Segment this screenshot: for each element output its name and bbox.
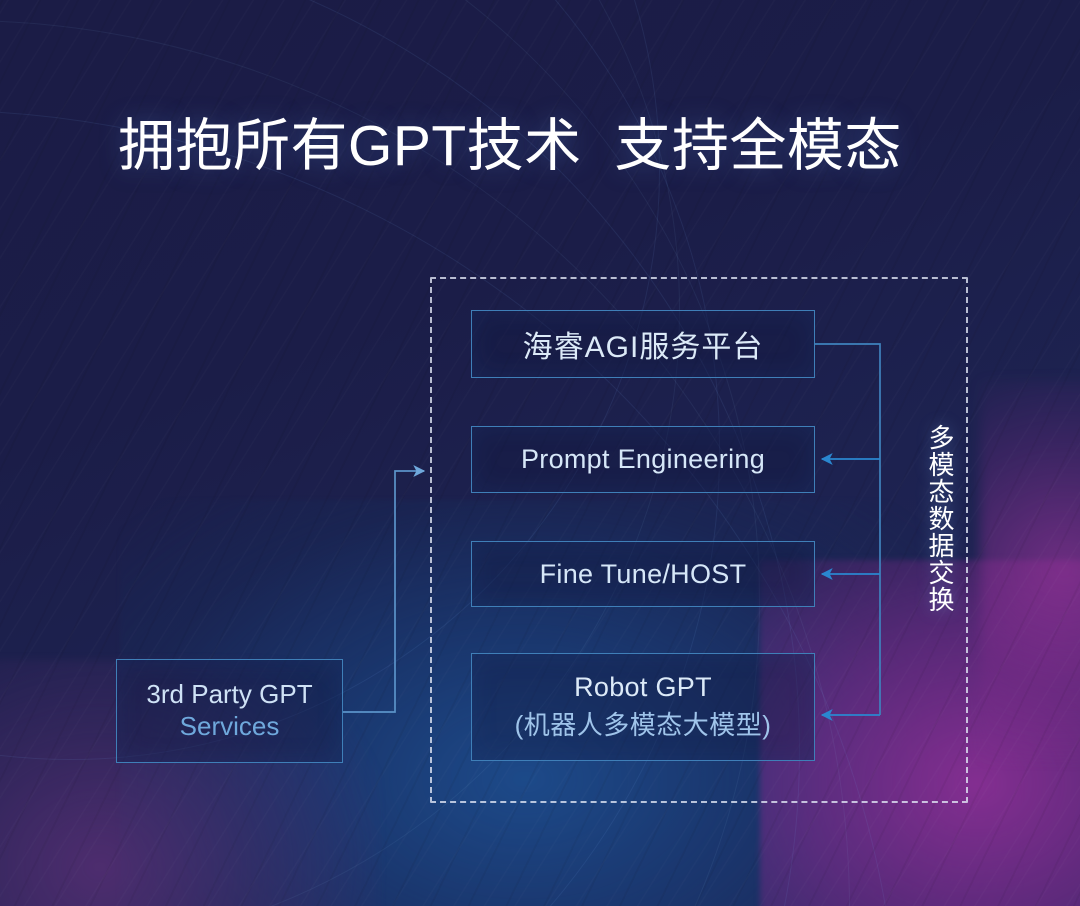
multimodal-data-exchange-label: 多模态数据交换 <box>916 424 954 613</box>
node-agi-service-platform[interactable]: 海睿AGI服务平台 <box>471 310 815 378</box>
node-label: Fine Tune/HOST <box>540 559 747 590</box>
node-third-party-gpt-services[interactable]: 3rd Party GPT Services <box>116 659 343 763</box>
node-prompt-engineering[interactable]: Prompt Engineering <box>471 426 815 493</box>
architecture-diagram: 海睿AGI服务平台 Prompt Engineering Fine Tune/H… <box>0 0 1080 906</box>
node-label-line2: Services <box>180 711 280 743</box>
node-robot-gpt[interactable]: Robot GPT (机器人多模态大模型) <box>471 653 815 761</box>
node-fine-tune-host[interactable]: Fine Tune/HOST <box>471 541 815 607</box>
node-label: 海睿AGI服务平台 <box>523 322 764 366</box>
node-label-line1: 3rd Party GPT <box>146 679 312 711</box>
node-label-sub: (机器人多模态大模型) <box>515 705 772 742</box>
node-label-main: Robot GPT <box>574 672 712 703</box>
node-label: Prompt Engineering <box>521 444 765 475</box>
slide-canvas: 拥抱所有GPT技术 支持全模态 <box>0 0 1080 906</box>
